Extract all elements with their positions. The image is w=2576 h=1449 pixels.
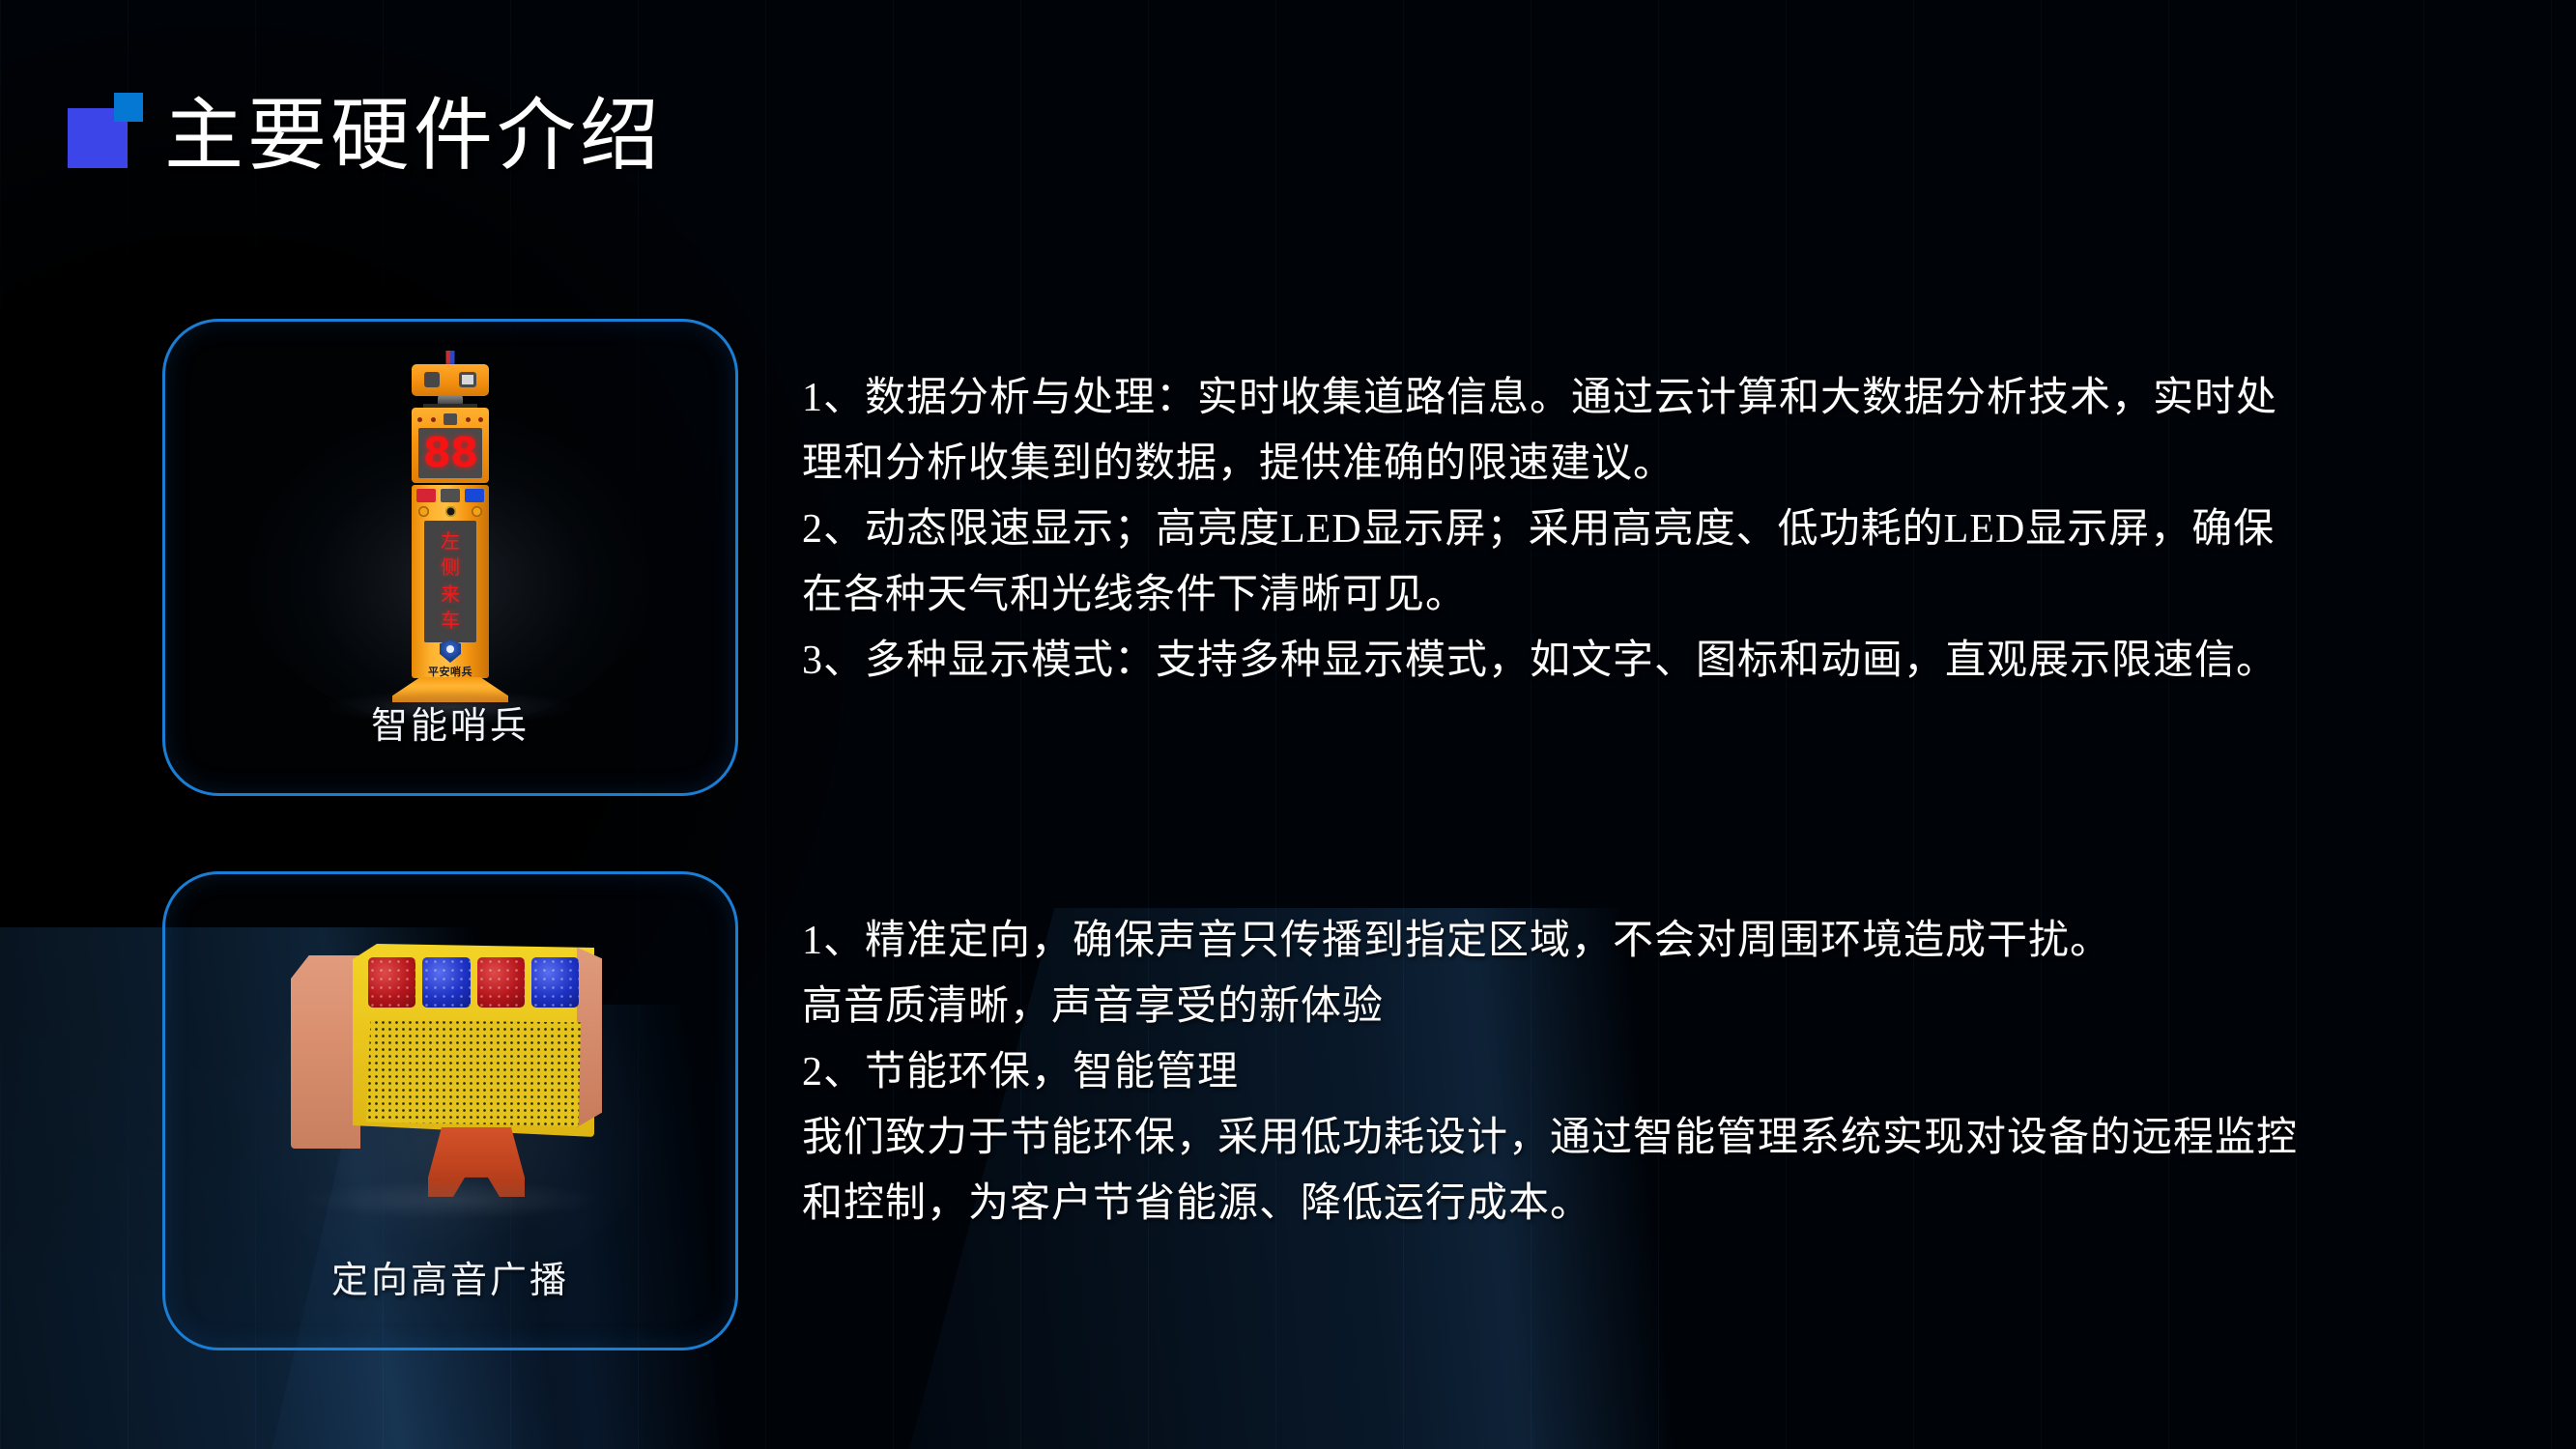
card-caption-sentinel: 智能哨兵 <box>165 696 735 749</box>
indicator-dot <box>466 417 471 422</box>
pillar-body: 左 侧 来 车 平安哨兵 <box>412 485 489 678</box>
led-message-char: 左 <box>441 532 460 552</box>
feature-line: 3、多种显示模式：支持多种显示模式，如文字、图标和动画，直观展示限速信。 <box>802 628 2512 694</box>
sentinel-device-illustration: 88 左 侧 来 车 <box>363 351 537 727</box>
feature-line: 在各种天气和光线条件下清晰可见。 <box>802 562 2512 628</box>
feature-line: 1、精准定向，确保声音只传播到指定区域，不会对周围环境造成干扰。 <box>802 908 2532 974</box>
warning-lamp-blue-icon <box>422 957 470 1008</box>
feature-line: 我们致力于节能环保，采用低功耗设计，通过智能管理系统实现对设备的远程监控 <box>802 1105 2532 1171</box>
status-indicator-row <box>416 489 484 502</box>
warning-lamp-red-icon <box>477 957 525 1008</box>
lamp-circle-icon <box>418 506 429 517</box>
camera-lens-light-icon <box>459 372 476 387</box>
lamp-circle-icon <box>472 506 482 517</box>
feature-line: 高音质清晰，声音享受的新体验 <box>802 974 2532 1039</box>
device-shadow <box>305 1180 595 1219</box>
warning-lamp-row <box>368 957 579 1008</box>
panel-indicator-dots <box>417 413 483 425</box>
led-message-strip: 左 侧 来 车 <box>424 521 476 642</box>
status-indicator-dark <box>441 489 460 502</box>
lamp-circle-dark-icon <box>445 506 456 517</box>
camera-head <box>412 364 489 396</box>
camera-lens-dark-icon <box>424 372 440 387</box>
title-row: 主要硬件介绍 <box>68 60 663 176</box>
broadcast-device-illustration <box>291 934 610 1224</box>
logo-mark-icon <box>68 93 143 168</box>
police-badge-icon <box>440 639 461 663</box>
feature-line: 1、数据分析与处理：实时收集道路信息。通过云计算和大数据分析技术，实时处 <box>802 365 2512 431</box>
led-message-char: 来 <box>441 585 460 605</box>
warning-lamp-blue-icon <box>531 957 579 1008</box>
indicator-dot <box>478 417 483 422</box>
slide-root: 主要硬件介绍 88 <box>0 0 2576 1449</box>
speed-led-screen: 88 <box>418 428 482 478</box>
card-caption-broadcast: 定向高音广播 <box>165 1250 735 1303</box>
feature-line: 2、节能环保，智能管理 <box>802 1039 2532 1105</box>
feature-line: 理和分析收集到的数据，提供准确的限速建议。 <box>802 431 2512 497</box>
page-title: 主要硬件介绍 <box>164 97 663 176</box>
logo-square-small-icon <box>114 93 143 122</box>
status-indicator-red <box>416 489 436 502</box>
feature-line: 2、动态限速显示；高亮度LED显示屏；采用高亮度、低功耗的LED显示屏，确保 <box>802 497 2512 562</box>
hardware-card-sentinel[interactable]: 88 左 侧 来 车 <box>162 319 738 796</box>
sensor-window-icon <box>444 413 457 425</box>
indicator-dot <box>431 417 436 422</box>
indicator-dot <box>417 417 422 422</box>
speaker-grille <box>366 1019 581 1127</box>
speed-display-panel: 88 <box>412 408 489 483</box>
antenna-icon <box>446 351 455 365</box>
broadcast-feature-text: 1、精准定向，确保声音只传播到指定区域，不会对周围环境造成干扰。 高音质清晰，声… <box>802 908 2532 1236</box>
speed-value: 88 <box>423 433 477 473</box>
hardware-card-broadcast[interactable]: 定向高音广播 <box>162 871 738 1350</box>
led-message-char: 侧 <box>441 558 460 578</box>
feature-line: 和控制，为客户节省能源、降低运行成本。 <box>802 1171 2532 1236</box>
speaker-side-panel <box>291 955 360 1149</box>
device-brand-text: 平安哨兵 <box>412 664 489 679</box>
sentinel-feature-text: 1、数据分析与处理：实时收集道路信息。通过云计算和大数据分析技术，实时处 理和分… <box>802 365 2512 694</box>
speaker-right-cap <box>577 944 602 1127</box>
led-message-char: 车 <box>441 611 460 631</box>
lamp-circle-row <box>418 505 482 517</box>
status-indicator-blue <box>465 489 484 502</box>
warning-lamp-red-icon <box>368 957 415 1008</box>
